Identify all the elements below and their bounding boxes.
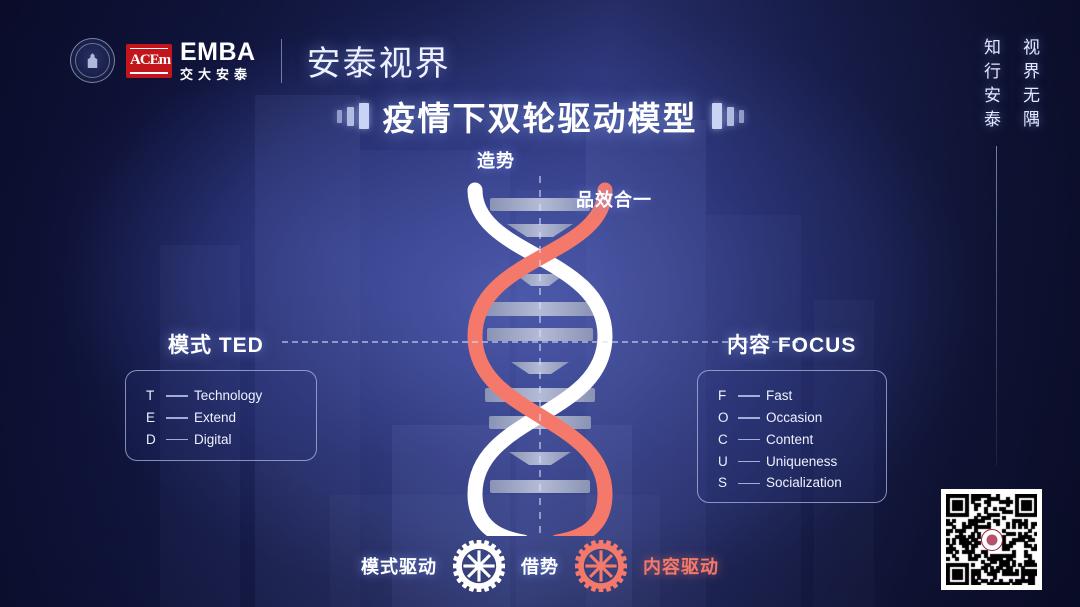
- item-key: O: [718, 407, 738, 429]
- list-item: F Fast: [718, 385, 866, 407]
- item-value: Extend: [194, 407, 236, 429]
- title-decoration-left: [337, 103, 369, 129]
- acem-red-mark-icon: ACEm: [126, 44, 172, 78]
- qr-center-seal-icon: [981, 529, 1003, 551]
- qr-code[interactable]: [941, 489, 1042, 590]
- item-value: Content: [766, 429, 813, 451]
- vertical-slogan: 知行安泰 视界无隅: [978, 38, 1042, 134]
- label-jieshi: 借势: [521, 553, 559, 579]
- item-key: D: [146, 429, 166, 451]
- ted-card: T Technology E Extend D Digital: [125, 370, 317, 461]
- list-item: U Uniqueness: [718, 451, 866, 473]
- vertical-divider-line: [996, 146, 997, 466]
- list-item: C Content: [718, 429, 866, 451]
- heading-mode-ted: 模式 TED: [168, 329, 264, 359]
- emba-subtitle: 交大安泰: [180, 68, 256, 81]
- acem-mark-text: ACEm: [130, 52, 170, 69]
- decoration-bar-icon: [712, 103, 722, 129]
- brand-title: 安泰视界: [307, 36, 451, 85]
- label-content-driven: 内容驱动: [643, 553, 719, 579]
- focus-card: F Fast O Occasion C Content U Uniqueness…: [697, 370, 887, 503]
- dash-separator: [166, 395, 188, 397]
- title-decoration-right: [712, 103, 744, 129]
- label-mode-driven: 模式驱动: [361, 553, 437, 579]
- list-item: E Extend: [146, 407, 296, 429]
- dash-separator: [738, 395, 760, 397]
- decoration-bar-icon: [337, 110, 342, 123]
- item-key: E: [146, 407, 166, 429]
- dash-separator: [738, 461, 760, 463]
- decoration-bar-icon: [727, 107, 734, 126]
- item-value: Technology: [194, 385, 262, 407]
- item-key: C: [718, 429, 738, 451]
- university-seal-icon: [70, 38, 115, 83]
- horizontal-dashed-divider: [282, 341, 798, 343]
- dash-separator: [738, 417, 760, 419]
- emba-wordmark: EMBA 交大安泰: [180, 40, 256, 81]
- item-value: Uniqueness: [766, 451, 837, 473]
- item-key: S: [718, 472, 738, 494]
- item-key: F: [718, 385, 738, 407]
- item-key: U: [718, 451, 738, 473]
- logo-divider: [281, 39, 282, 83]
- label-pinxiao-heyi: 品效合一: [576, 186, 652, 212]
- decoration-bar-icon: [739, 110, 744, 123]
- item-value: Occasion: [766, 407, 822, 429]
- emba-title: EMBA: [180, 40, 256, 65]
- item-key: T: [146, 385, 166, 407]
- heading-content-focus: 内容 FOCUS: [727, 329, 856, 359]
- vertical-slogan-left: 知行安泰: [978, 38, 1003, 134]
- header-logo-lockup: ACEm EMBA 交大安泰 安泰视界: [70, 36, 451, 85]
- list-item: S Socialization: [718, 472, 866, 494]
- decoration-bar-icon: [359, 103, 369, 129]
- list-item: D Digital: [146, 429, 296, 451]
- item-value: Fast: [766, 385, 792, 407]
- list-item: O Occasion: [718, 407, 866, 429]
- dash-separator: [166, 439, 188, 441]
- slide-canvas: ACEm EMBA 交大安泰 安泰视界 疫情下双轮驱动模型 知行安泰 视界: [0, 0, 1080, 607]
- page-title: 疫情下双轮驱动模型: [383, 92, 698, 140]
- gear-red-icon: [575, 540, 627, 592]
- item-value: Socialization: [766, 472, 842, 494]
- emba-logo: ACEm EMBA 交大安泰: [126, 40, 256, 81]
- list-item: T Technology: [146, 385, 296, 407]
- dash-separator: [166, 417, 188, 419]
- decoration-bar-icon: [347, 107, 354, 126]
- dna-helix-graphic: [445, 176, 635, 536]
- gear-white-icon: [453, 540, 505, 592]
- dash-separator: [738, 439, 760, 441]
- bottom-drivers-row: 模式驱动 借势: [0, 540, 1080, 592]
- item-value: Digital: [194, 429, 232, 451]
- vertical-slogan-right: 视界无隅: [1017, 38, 1042, 134]
- dash-separator: [738, 483, 760, 485]
- label-zaoshi: 造势: [477, 147, 515, 173]
- title-row: 疫情下双轮驱动模型: [0, 92, 1080, 140]
